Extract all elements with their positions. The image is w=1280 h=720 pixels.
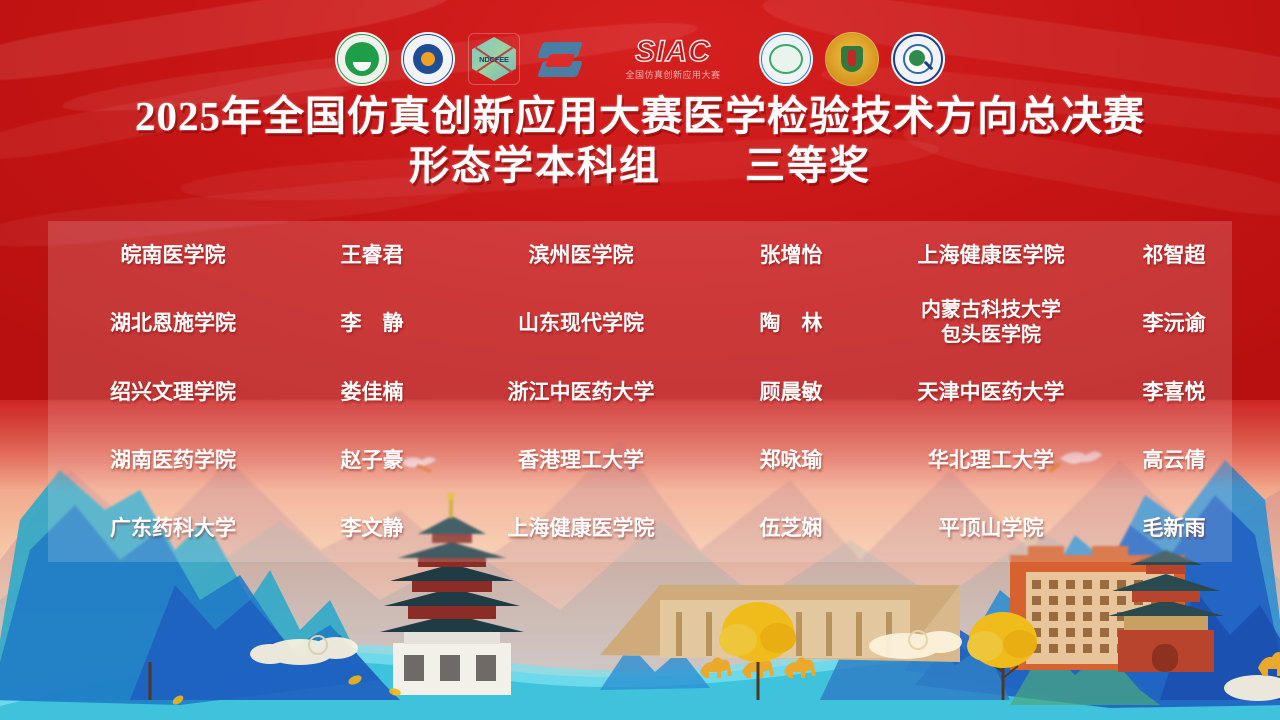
cell-school: 湖北恩施学院: [48, 311, 298, 335]
cell-student: 赵子豪: [298, 448, 446, 472]
cell-school: 香港理工大学: [446, 448, 716, 472]
award-table-panel: 皖南医学院 王睿君 滨州医学院 张增怡 上海健康医学院 祁智超 湖北恩施学院 李…: [48, 221, 1232, 562]
cell-school: 华北理工大学: [866, 448, 1116, 472]
siac-logo-subtitle: 全国仿真创新应用大赛: [625, 68, 720, 81]
cell-school: 浙江中医药大学: [446, 380, 716, 404]
cell-school: 皖南医学院: [48, 243, 298, 267]
cell-student: 李喜悦: [1116, 380, 1232, 404]
globe-magnifier-logo: [890, 31, 946, 87]
cell-student: 陶 林: [716, 311, 866, 335]
organizer-logo-strip: NDCFEE SIAC 全国仿真创新应用大赛: [0, 28, 1280, 90]
cell-school: 绍兴文理学院: [48, 380, 298, 404]
table-row: 湖南医药学院 赵子豪 香港理工大学 郑咏瑜 华北理工大学 高云倩: [48, 426, 1232, 494]
siac-logo-text: SIAC: [635, 37, 711, 67]
cell-student: 毛新雨: [1116, 516, 1232, 540]
cell-student: 王睿君: [298, 243, 446, 267]
page-title: 2025年全国仿真创新应用大赛医学检验技术方向总决赛 形态学本科组 三等奖: [0, 92, 1280, 192]
cell-school: 内蒙古科技大学 包头医学院: [866, 298, 1116, 348]
cell-school: 天津中医药大学: [866, 380, 1116, 404]
cell-school: 山东现代学院: [446, 311, 716, 335]
cell-school: 平顶山学院: [866, 516, 1116, 540]
cell-student: 顾晨敏: [716, 380, 866, 404]
table-row: 广东药科大学 李文静 上海健康医学院 伍芝娴 平顶山学院 毛新雨: [48, 494, 1232, 562]
cell-student: 娄佳楠: [298, 380, 446, 404]
cell-school: 滨州医学院: [446, 243, 716, 267]
table-row: 湖北恩施学院 李 静 山东现代学院 陶 林 内蒙古科技大学 包头医学院 李沅谕: [48, 289, 1232, 357]
school-emblem-green-hand-logo: [334, 31, 390, 87]
green-leaf-circle-logo: [758, 31, 814, 87]
title-line-2: 形态学本科组 三等奖: [0, 140, 1280, 192]
cell-school: 湖南医药学院: [48, 448, 298, 472]
cell-student: 伍芝娴: [716, 516, 866, 540]
ndcfee-logo-text: NDCFEE: [479, 55, 509, 64]
cell-school: 广东药科大学: [48, 516, 298, 540]
gold-crest-logo: [824, 31, 880, 87]
blue-red-layers-logo: [532, 31, 588, 87]
cell-school: 上海健康医学院: [866, 243, 1116, 267]
university-blue-circle-logo: [400, 31, 456, 87]
cell-student: 祁智超: [1116, 243, 1232, 267]
cell-student: 张增怡: [716, 243, 866, 267]
cell-student: 郑咏瑜: [716, 448, 866, 472]
cell-student: 高云倩: [1116, 448, 1232, 472]
cell-student: 李沅谕: [1116, 311, 1232, 335]
cell-student: 李 静: [298, 311, 446, 335]
cell-student: 李文静: [298, 516, 446, 540]
award-table: 皖南医学院 王睿君 滨州医学院 张增怡 上海健康医学院 祁智超 湖北恩施学院 李…: [48, 221, 1232, 562]
title-line-1: 2025年全国仿真创新应用大赛医学检验技术方向总决赛: [0, 92, 1280, 140]
table-row: 绍兴文理学院 娄佳楠 浙江中医药大学 顾晨敏 天津中医药大学 李喜悦: [48, 357, 1232, 425]
slide-root: NDCFEE SIAC 全国仿真创新应用大赛 2025年全国仿真创新应用大赛医学…: [0, 0, 1280, 720]
siac-logo: SIAC 全国仿真创新应用大赛: [598, 32, 748, 86]
cell-school: 上海健康医学院: [446, 516, 716, 540]
ndcfee-logo: NDCFEE: [466, 31, 522, 87]
table-row: 皖南医学院 王睿君 滨州医学院 张增怡 上海健康医学院 祁智超: [48, 221, 1232, 289]
